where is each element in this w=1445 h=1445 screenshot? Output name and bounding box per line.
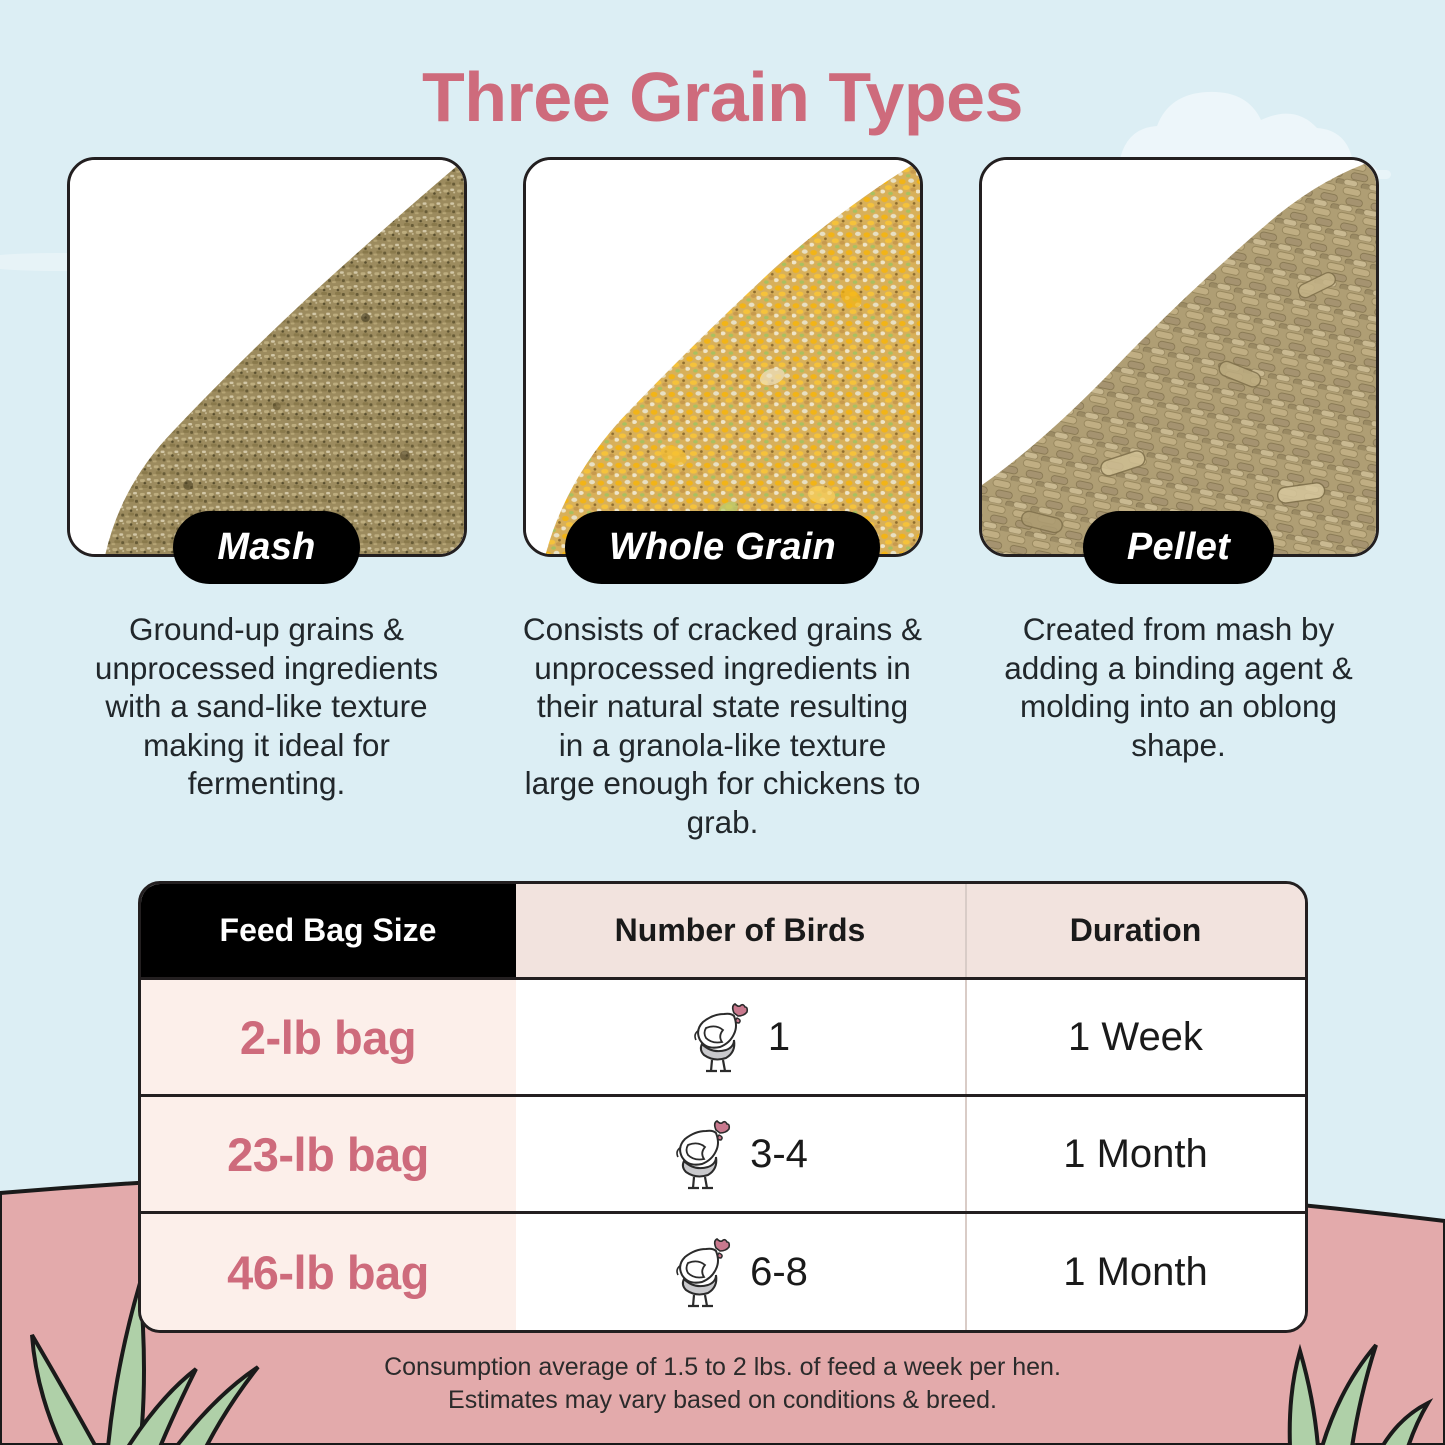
hen-icon: [672, 1117, 736, 1191]
grain-type-description: Created from mash by adding a binding ag…: [979, 610, 1379, 764]
pellet-photo: [979, 157, 1379, 557]
cell-feed-bag-size: 2-lb bag: [141, 979, 516, 1096]
table-row: 2-lb bag 1: [141, 979, 1305, 1096]
feed-bag-table: Feed Bag Size Number of Birds Duration 2…: [138, 881, 1308, 1333]
grain-type-description: Consists of cracked grains & unprocessed…: [523, 610, 923, 841]
bird-count: 1: [768, 1015, 790, 1060]
cell-number-of-birds: 6-8: [516, 1213, 966, 1330]
hen-icon: [690, 1000, 754, 1074]
table-row: 23-lb bag 3-4: [141, 1096, 1305, 1213]
cell-number-of-birds: 3-4: [516, 1096, 966, 1213]
grain-type-card-pellet: Pellet Created from mash by adding a bin…: [979, 157, 1379, 841]
footnote: Consumption average of 1.5 to 2 lbs. of …: [0, 1351, 1445, 1417]
cell-duration: 1 Month: [966, 1096, 1305, 1213]
bird-count: 6-8: [750, 1250, 808, 1295]
bird-count: 3-4: [750, 1132, 808, 1177]
grain-type-label: Whole Grain: [565, 511, 880, 584]
grain-types-row: Mash Ground-up grains & unprocessed ingr…: [0, 157, 1445, 841]
grain-type-label: Mash: [173, 511, 359, 584]
grain-type-description: Ground-up grains & unprocessed ingredien…: [67, 610, 467, 802]
grain-type-card-mash: Mash Ground-up grains & unprocessed ingr…: [67, 157, 467, 841]
cell-number-of-birds: 1: [516, 979, 966, 1096]
grain-type-card-whole-grain: Whole Grain Consists of cracked grains &…: [523, 157, 923, 841]
mash-grain-photo: [67, 157, 467, 557]
cell-feed-bag-size: 23-lb bag: [141, 1096, 516, 1213]
page-title: Three Grain Types: [0, 0, 1445, 133]
header-duration: Duration: [966, 884, 1305, 979]
whole-grain-illustration: [526, 160, 920, 554]
footnote-line-1: Consumption average of 1.5 to 2 lbs. of …: [0, 1351, 1445, 1384]
table-row: 46-lb bag 6-8: [141, 1213, 1305, 1330]
header-feed-bag-size: Feed Bag Size: [141, 884, 516, 979]
pellet-illustration: [982, 160, 1376, 554]
cell-duration: 1 Week: [966, 979, 1305, 1096]
header-number-of-birds: Number of Birds: [516, 884, 966, 979]
cell-duration: 1 Month: [966, 1213, 1305, 1330]
mash-grain-illustration: [70, 160, 464, 554]
grain-type-label: Pellet: [1083, 511, 1274, 584]
hen-icon: [672, 1235, 736, 1309]
footnote-line-2: Estimates may vary based on conditions &…: [0, 1384, 1445, 1417]
cell-feed-bag-size: 46-lb bag: [141, 1213, 516, 1330]
table-header-row: Feed Bag Size Number of Birds Duration: [141, 884, 1305, 979]
whole-grain-photo: [523, 157, 923, 557]
